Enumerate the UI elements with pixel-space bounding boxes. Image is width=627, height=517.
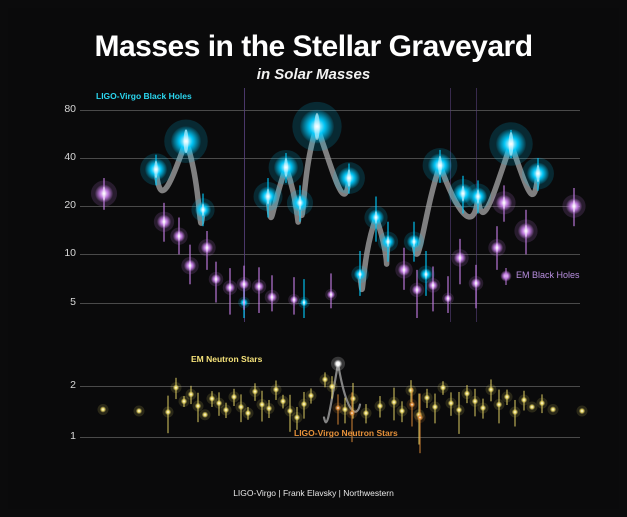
em-neutron-star-marker[interactable] bbox=[231, 394, 237, 400]
em-neutron-star-marker[interactable] bbox=[195, 403, 201, 409]
marker-highlight bbox=[525, 225, 528, 238]
marker-highlight bbox=[271, 293, 273, 301]
ligo-neutron-star-marker[interactable] bbox=[349, 410, 355, 416]
page-subtitle: in Solar Masses bbox=[8, 66, 619, 83]
em-neutron-star-marker[interactable] bbox=[529, 404, 535, 410]
marker-highlight bbox=[314, 113, 319, 140]
em-neutron-star-marker[interactable] bbox=[424, 395, 430, 401]
marker-highlight bbox=[496, 243, 498, 253]
em-neutron-star-marker[interactable] bbox=[273, 386, 279, 392]
marker-highlight bbox=[447, 295, 449, 301]
marker-highlight bbox=[229, 284, 231, 292]
em-neutron-star-marker[interactable] bbox=[391, 399, 397, 405]
em-neutron-star-marker[interactable] bbox=[408, 387, 414, 393]
legend-ligo-virgo-neutron-stars: LIGO-Virgo Neutron Stars bbox=[294, 428, 398, 438]
em-neutron-star-marker[interactable] bbox=[377, 403, 383, 409]
marker-highlight bbox=[438, 156, 442, 175]
marker-highlight bbox=[477, 189, 480, 203]
figure-plate: Masses in the Stellar Graveyard in Solar… bbox=[8, 8, 619, 509]
em-neutron-star-marker[interactable] bbox=[252, 388, 258, 394]
page-title: Masses in the Stellar Graveyard bbox=[8, 30, 619, 64]
em-neutron-star-marker[interactable] bbox=[504, 394, 510, 400]
em-neutron-star-marker[interactable] bbox=[238, 404, 244, 410]
em-neutron-star-marker[interactable] bbox=[181, 398, 187, 404]
marker-highlight bbox=[266, 189, 269, 205]
em-neutron-star-marker[interactable] bbox=[480, 405, 486, 411]
marker-highlight bbox=[243, 280, 245, 288]
marker-highlight bbox=[359, 270, 361, 280]
merger-remnant-marker[interactable] bbox=[334, 360, 342, 368]
neutron-star-panel: 21 EM Neutron Stars LIGO-Virgo Neutron S… bbox=[8, 338, 619, 483]
em-neutron-star-marker[interactable] bbox=[464, 390, 470, 396]
em-neutron-star-marker[interactable] bbox=[100, 406, 106, 412]
em-neutron-star-marker[interactable] bbox=[472, 398, 478, 404]
marker-highlight bbox=[425, 270, 427, 280]
marker-highlight bbox=[403, 265, 405, 275]
ns-scatter bbox=[8, 338, 619, 483]
marker-highlight bbox=[509, 132, 514, 156]
em-neutron-star-marker[interactable] bbox=[579, 408, 585, 414]
marker-highlight bbox=[202, 203, 205, 216]
marker-highlight bbox=[154, 161, 158, 179]
marker-highlight bbox=[293, 297, 295, 303]
ligo-neutron-star-marker[interactable] bbox=[417, 414, 423, 420]
em-neutron-star-marker[interactable] bbox=[287, 408, 293, 414]
em-neutron-star-marker[interactable] bbox=[280, 398, 286, 404]
marker-highlight bbox=[258, 282, 260, 290]
marker-highlight bbox=[347, 169, 351, 187]
figure-frame: Masses in the Stellar Graveyard in Solar… bbox=[0, 0, 627, 517]
marker-highlight bbox=[459, 253, 461, 263]
marker-highlight bbox=[573, 200, 576, 213]
em-neutron-star-marker[interactable] bbox=[448, 400, 454, 406]
em-neutron-star-marker[interactable] bbox=[165, 409, 171, 415]
em-neutron-star-marker[interactable] bbox=[521, 397, 527, 403]
em-neutron-star-marker[interactable] bbox=[245, 410, 251, 416]
em-neutron-star-marker[interactable] bbox=[432, 404, 438, 410]
legend-em-black-holes: EM Black Holes bbox=[516, 270, 580, 280]
marker-highlight bbox=[461, 186, 464, 202]
marker-highlight bbox=[206, 243, 208, 253]
marker-highlight bbox=[284, 158, 288, 177]
em-neutron-star-marker[interactable] bbox=[322, 376, 328, 382]
marker-highlight bbox=[163, 216, 165, 227]
marker-highlight bbox=[503, 196, 506, 209]
em-neutron-star-marker[interactable] bbox=[488, 386, 494, 392]
em-neutron-star-marker[interactable] bbox=[496, 401, 502, 407]
legend-ligo-virgo-black-holes: LIGO-Virgo Black Holes bbox=[96, 91, 192, 101]
em-neutron-star-marker[interactable] bbox=[329, 383, 335, 389]
em-neutron-star-marker[interactable] bbox=[456, 407, 462, 413]
marker-highlight bbox=[536, 165, 540, 183]
em-neutron-star-marker[interactable] bbox=[399, 408, 405, 414]
marker-highlight bbox=[432, 281, 434, 289]
marker-highlight bbox=[330, 291, 332, 297]
em-neutron-star-marker[interactable] bbox=[188, 391, 194, 397]
bh-scatter bbox=[8, 88, 619, 328]
legend-em-neutron-stars: EM Neutron Stars bbox=[191, 354, 262, 364]
black-hole-panel: 804020105 LIGO-Virgo Black Holes EM Blac… bbox=[8, 88, 619, 328]
em-neutron-star-marker[interactable] bbox=[308, 393, 314, 399]
marker-highlight bbox=[189, 261, 191, 271]
em-neutron-star-marker[interactable] bbox=[512, 409, 518, 415]
marker-highlight bbox=[299, 196, 302, 210]
em-neutron-star-marker[interactable] bbox=[350, 396, 356, 402]
marker-highlight bbox=[303, 299, 305, 305]
ligo-neutron-star-marker[interactable] bbox=[409, 401, 415, 407]
em-neutron-star-marker[interactable] bbox=[223, 407, 229, 413]
em-neutron-star-marker[interactable] bbox=[202, 412, 208, 418]
credit-line: LIGO-Virgo | Frank Elavsky | Northwester… bbox=[8, 488, 619, 498]
marker-highlight bbox=[375, 211, 378, 224]
marker-highlight bbox=[475, 279, 477, 287]
marker-highlight bbox=[178, 231, 180, 241]
marker-highlight bbox=[215, 275, 217, 283]
em-neutron-star-marker[interactable] bbox=[294, 414, 300, 420]
ligo-neutron-star-marker[interactable] bbox=[335, 405, 341, 411]
marker-highlight bbox=[387, 236, 389, 247]
em-neutron-star-marker[interactable] bbox=[539, 400, 545, 406]
em-neutron-star-marker[interactable] bbox=[216, 400, 222, 406]
marker-highlight bbox=[103, 186, 106, 200]
em-neutron-star-marker[interactable] bbox=[550, 406, 556, 412]
em-neutron-star-marker[interactable] bbox=[173, 385, 179, 391]
em-neutron-star-marker[interactable] bbox=[363, 410, 369, 416]
marker-highlight bbox=[413, 236, 415, 247]
em-neutron-star-marker[interactable] bbox=[136, 408, 142, 414]
marker-highlight bbox=[416, 286, 418, 294]
em-neutron-star-marker[interactable] bbox=[301, 401, 307, 407]
em-neutron-star-marker[interactable] bbox=[440, 385, 446, 391]
em-neutron-star-marker[interactable] bbox=[266, 405, 272, 411]
marker-highlight bbox=[184, 129, 189, 153]
